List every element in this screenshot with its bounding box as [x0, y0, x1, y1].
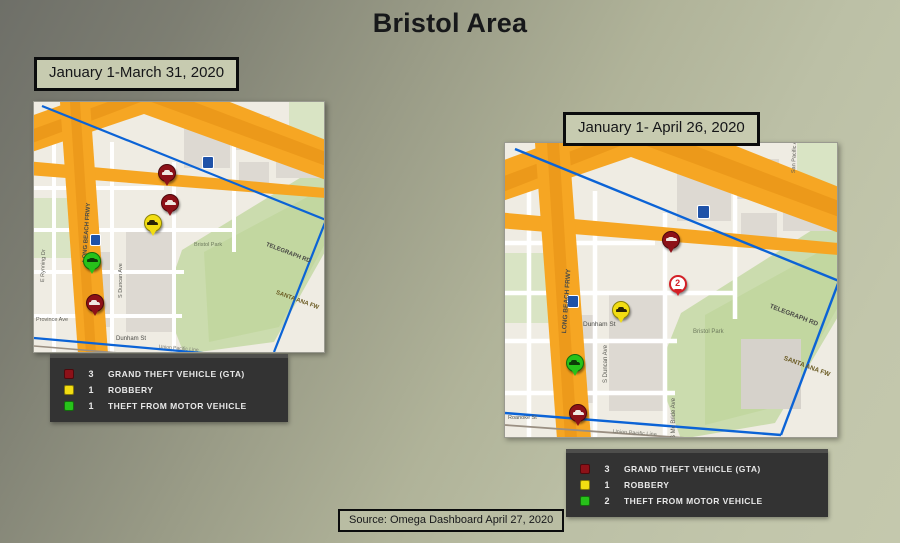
legend-label-robbery: ROBBERY	[624, 480, 669, 490]
map-label-e-rynning-dr: E Rynning Dr	[40, 249, 47, 282]
legend-count-theft: 2	[590, 496, 624, 506]
legend-swatch-gta	[64, 369, 74, 379]
map-label-s-duncan-ave: S Duncan Ave	[603, 345, 609, 383]
car-icon	[666, 237, 677, 243]
map-label-dunham-st: Dunham St	[116, 336, 146, 342]
source-label: Source: Omega Dashboard April 27, 2020	[338, 509, 564, 532]
legend-count-robbery: 1	[590, 480, 624, 490]
legend-swatch-robbery	[580, 480, 590, 490]
map-pin-cluster[interactable]: 2	[669, 275, 687, 293]
date-range-label-left: January 1-March 31, 2020	[34, 57, 239, 91]
map-pin-gta[interactable]	[569, 404, 587, 422]
robbery-icon	[616, 307, 627, 313]
map-pin-gta[interactable]	[158, 164, 176, 182]
map-pin-theft-from-vehicle[interactable]	[566, 354, 584, 372]
legend-row: 1 THEFT FROM MOTOR VEHICLE	[50, 398, 288, 413]
car-icon	[89, 300, 100, 306]
car-icon	[87, 258, 98, 264]
map-label-dunham-st: Dunham St	[583, 321, 616, 328]
legend-right: 3 GRAND THEFT VEHICLE (GTA) 1 ROBBERY 2 …	[566, 449, 828, 517]
car-icon	[162, 170, 173, 176]
legend-count-robbery: 1	[74, 385, 108, 395]
map-pin-theft-from-vehicle[interactable]	[83, 252, 101, 270]
legend-label-gta: GRAND THEFT VEHICLE (GTA)	[624, 464, 761, 474]
legend-swatch-gta	[580, 464, 590, 474]
legend-swatch-theft	[580, 496, 590, 506]
legend-label-theft: THEFT FROM MOTOR VEHICLE	[624, 496, 763, 506]
map-pin-gta[interactable]	[161, 194, 179, 212]
robbery-icon	[147, 220, 158, 226]
map-image-right[interactable]: LONG BEACH FRWY TELEGRAPH RD SANTA ANA F…	[504, 142, 838, 438]
interstate-shield-icon	[90, 234, 101, 246]
legend-left: 3 GRAND THEFT VEHICLE (GTA) 1 ROBBERY 1 …	[50, 354, 288, 422]
legend-swatch-robbery	[64, 385, 74, 395]
legend-row: 1 ROBBERY	[50, 382, 288, 397]
legend-label-gta: GRAND THEFT VEHICLE (GTA)	[108, 369, 245, 379]
map-label-s-mc-bride-ave: S Mc Bride Ave	[671, 398, 677, 438]
map-label-roanoke-st: Roanoke St	[508, 415, 537, 421]
map-label-park: Bristol Park	[693, 329, 724, 335]
map-image-left[interactable]: LONG BEACH FRWY TELEGRAPH RD SANTA ANA F…	[33, 101, 325, 353]
map-pin-robbery[interactable]	[612, 301, 630, 319]
map-vector-left	[34, 102, 325, 353]
legend-swatch-theft	[64, 401, 74, 411]
map-label-s-duncan-ave: S Duncan Ave	[118, 263, 124, 298]
page-title: Bristol Area	[0, 8, 900, 39]
legend-row: 3 GRAND THEFT VEHICLE (GTA)	[566, 461, 828, 476]
interstate-shield-icon	[202, 156, 214, 169]
map-label-province-ave: Province Ave	[36, 317, 68, 323]
car-icon	[573, 410, 584, 416]
legend-row: 2 THEFT FROM MOTOR VEHICLE	[566, 493, 828, 508]
map-label-park: Bristol Park	[194, 242, 222, 248]
car-icon	[165, 200, 176, 206]
car-icon	[569, 360, 580, 366]
map-pin-gta[interactable]	[662, 231, 680, 249]
legend-count-gta: 3	[74, 369, 108, 379]
legend-count-gta: 3	[590, 464, 624, 474]
map-pin-gta[interactable]	[86, 294, 104, 312]
cluster-count: 2	[675, 279, 680, 288]
legend-row: 1 ROBBERY	[566, 477, 828, 492]
legend-count-theft: 1	[74, 401, 108, 411]
legend-label-robbery: ROBBERY	[108, 385, 153, 395]
slide-canvas: Bristol Area	[0, 0, 900, 543]
interstate-shield-icon	[697, 205, 710, 219]
date-range-label-right: January 1- April 26, 2020	[563, 112, 760, 146]
map-canvas-right: LONG BEACH FRWY TELEGRAPH RD SANTA ANA F…	[505, 143, 837, 437]
map-pin-robbery[interactable]	[144, 214, 162, 232]
legend-row: 3 GRAND THEFT VEHICLE (GTA)	[50, 366, 288, 381]
map-canvas-left: LONG BEACH FRWY TELEGRAPH RD SANTA ANA F…	[34, 102, 324, 352]
legend-label-theft: THEFT FROM MOTOR VEHICLE	[108, 401, 247, 411]
